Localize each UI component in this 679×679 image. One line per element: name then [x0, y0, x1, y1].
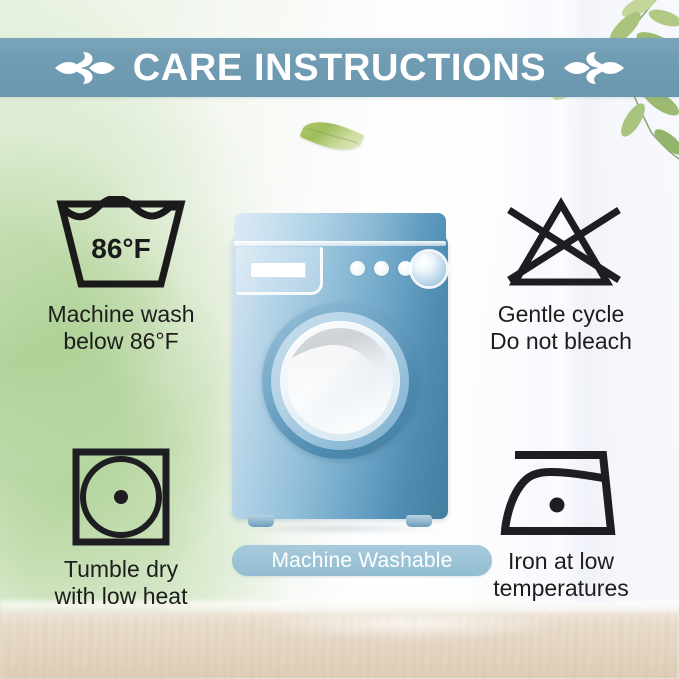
tumble-dry-icon	[12, 447, 230, 547]
symbol-caption-gentle-no-bleach: Gentle cycle Do not bleach	[452, 301, 670, 355]
indicator-light	[350, 261, 365, 276]
machine-door-glass	[287, 328, 393, 434]
machine-indicator-lights	[350, 261, 413, 276]
crossed-triangle-icon	[452, 196, 670, 292]
care-instructions-graphic: CARE INSTRUCTIONS 86°F Machine wash belo…	[0, 0, 679, 679]
indicator-light	[398, 261, 413, 276]
machine-dial-knob	[412, 252, 446, 286]
symbol-iron: Iron at low temperatures	[452, 447, 670, 602]
washing-machine-illustration	[232, 213, 448, 533]
wash-temp-value: 86°F	[91, 233, 150, 264]
machine-top-lip	[234, 241, 446, 246]
symbol-caption-machine-wash: Machine wash below 86°F	[12, 301, 230, 355]
machine-washable-badge: Machine Washable	[232, 545, 492, 576]
symbol-machine-wash: 86°F Machine wash below 86°F	[12, 196, 230, 355]
fleur-de-lis-ornament-right	[562, 48, 626, 88]
machine-foot-left	[248, 515, 274, 527]
symbol-gentle-no-bleach: Gentle cycle Do not bleach	[452, 196, 670, 355]
machine-door-ring-inner	[280, 321, 400, 441]
fleur-de-lis-ornament-left	[53, 48, 117, 88]
machine-foot-right	[406, 515, 432, 527]
symbol-tumble-dry: Tumble dry with low heat	[12, 447, 230, 610]
iron-icon	[452, 447, 670, 539]
machine-control-panel	[236, 247, 323, 295]
banner: CARE INSTRUCTIONS	[0, 38, 679, 97]
symbol-caption-tumble-dry: Tumble dry with low heat	[12, 556, 230, 610]
indicator-light	[374, 261, 389, 276]
machine-door-ring-outer	[271, 312, 409, 450]
machine-display-screen	[250, 262, 306, 278]
wash-tub-icon: 86°F	[12, 196, 230, 292]
page-title: CARE INSTRUCTIONS	[133, 49, 546, 87]
machine-top-panel	[234, 213, 446, 243]
machine-door-reflection	[287, 336, 388, 434]
machine-door	[262, 303, 418, 459]
table-highlight	[250, 609, 570, 639]
machine-washable-badge-label: Machine Washable	[271, 549, 452, 573]
